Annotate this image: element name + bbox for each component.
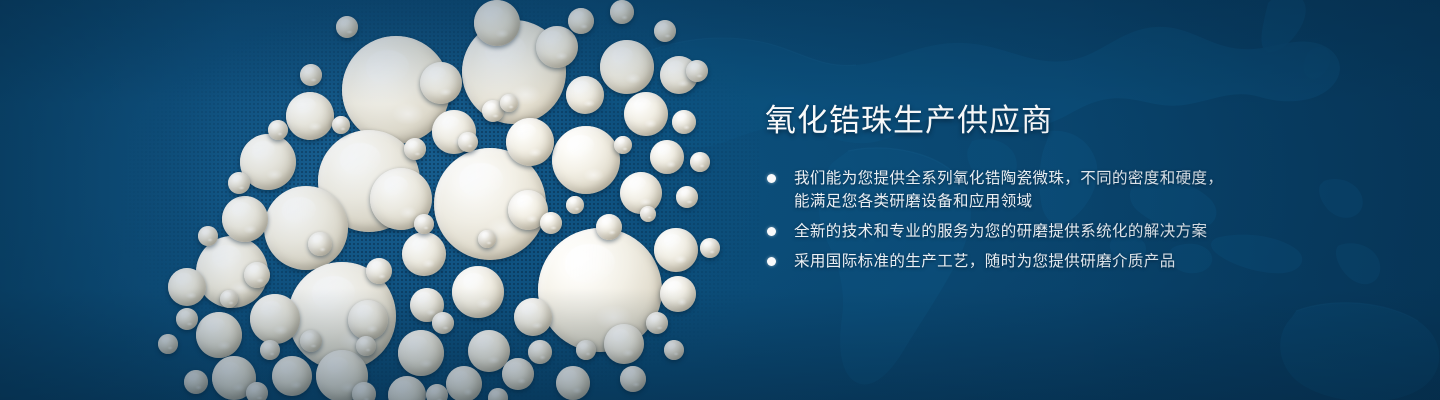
hero-banner: 氧化锆珠生产供应商 我们能为您提供全系列氧化锆陶瓷微珠，不同的密度和硬度， 能满… [0, 0, 1440, 400]
vignette-overlay [0, 0, 1440, 400]
